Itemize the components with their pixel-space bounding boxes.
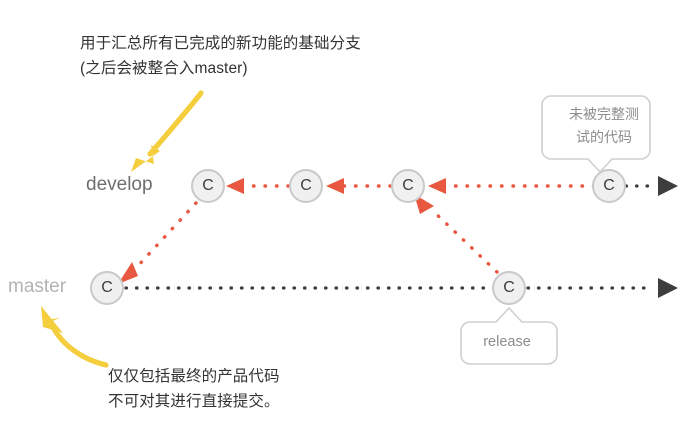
merge-develop-to-master <box>118 203 196 284</box>
commit-label-develop-2: C <box>291 171 321 201</box>
annotation-master-description: 仅仅包括最终的产品代码 不可对其进行直接提交。 <box>108 364 280 414</box>
develop-end-arrowhead <box>658 176 678 196</box>
commit-label-master-2: C <box>494 273 524 303</box>
branch-label-master: master <box>8 276 66 298</box>
merge-up-line <box>432 210 497 272</box>
yellow-arrow-head-2b <box>41 306 63 333</box>
branch-label-develop: develop <box>86 174 153 196</box>
merge-master-to-develop <box>414 194 497 272</box>
commit-label-develop-3: C <box>393 171 423 201</box>
yellow-arrow-to-develop <box>131 93 201 172</box>
callout-release-label: release <box>462 331 552 354</box>
master-branch-line <box>126 278 678 298</box>
commit-label-master-1: C <box>92 273 122 303</box>
annotation-develop-description: 用于汇总所有已完成的新功能的基础分支 (之后会被整合入master) <box>80 31 361 81</box>
develop-arrowhead-1 <box>226 178 244 194</box>
yellow-arrow-shaft-1 <box>150 93 201 154</box>
diagram-canvas: 用于汇总所有已完成的新功能的基础分支 (之后会被整合入master) 仅仅包括最… <box>0 0 685 425</box>
commit-label-develop-4: C <box>594 171 624 201</box>
merge-down-line <box>136 203 196 268</box>
yellow-arrow-to-master <box>41 306 106 365</box>
develop-arrowhead-2 <box>326 178 344 194</box>
yellow-arrow-head-1 <box>131 145 160 172</box>
develop-arrowhead-3 <box>428 178 446 194</box>
callout-untested-code-label: 未被完整测 试的代码 <box>556 103 652 149</box>
commit-label-develop-1: C <box>193 171 223 201</box>
commit-nodes <box>91 170 625 304</box>
master-end-arrowhead <box>658 278 678 298</box>
